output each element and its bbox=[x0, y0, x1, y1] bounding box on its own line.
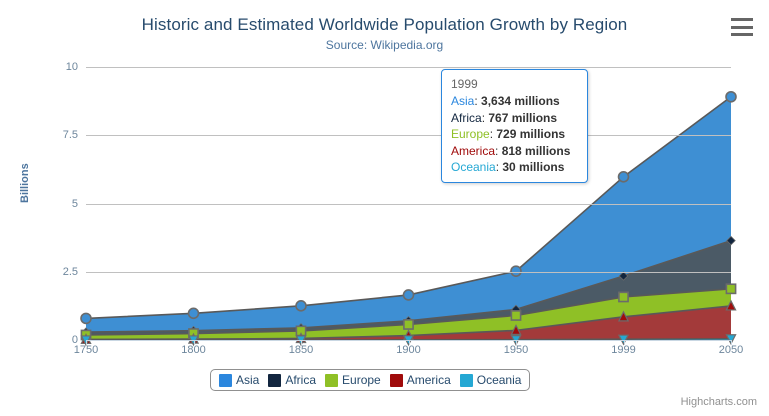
tooltip-series-name: Europe bbox=[451, 127, 490, 141]
tooltip-row: Africa: 767 millions bbox=[451, 110, 579, 126]
x-axis-label: 1750 bbox=[74, 344, 98, 356]
tooltip-rows: Asia: 3,634 millionsAfrica: 767 millions… bbox=[451, 93, 579, 175]
tooltip-header: 1999 bbox=[451, 76, 579, 93]
tooltip-series-value: 3,634 millions bbox=[481, 94, 560, 108]
legend-item-america[interactable]: America bbox=[390, 370, 451, 390]
y-axis-label: 7.5 bbox=[63, 129, 78, 141]
y-gridline bbox=[86, 135, 731, 136]
y-gridline bbox=[86, 67, 731, 68]
legend-item-oceania[interactable]: Oceania bbox=[460, 370, 522, 390]
y-axis-label: 10 bbox=[66, 61, 78, 73]
tooltip-series-name: America bbox=[451, 144, 495, 158]
tooltip-row: America: 818 millions bbox=[451, 143, 579, 159]
legend-item-label: America bbox=[407, 373, 451, 387]
legend-item-europe[interactable]: Europe bbox=[325, 370, 381, 390]
legend-item-label: Europe bbox=[342, 373, 381, 387]
legend-color-swatch bbox=[460, 374, 473, 387]
chart-subtitle: Source: Wikipedia.org bbox=[0, 38, 769, 52]
chart-title: Historic and Estimated Worldwide Populat… bbox=[0, 15, 769, 35]
legend-color-swatch bbox=[325, 374, 338, 387]
tooltip-series-value: 729 millions bbox=[496, 127, 565, 141]
hamburger-bar bbox=[731, 18, 753, 21]
hamburger-bar bbox=[731, 26, 753, 29]
data-tooltip: 1999 Asia: 3,634 millionsAfrica: 767 mil… bbox=[441, 69, 588, 183]
tooltip-series-name: Asia bbox=[451, 94, 474, 108]
legend-color-swatch bbox=[390, 374, 403, 387]
legend-color-swatch bbox=[219, 374, 232, 387]
x-axis-label: 1900 bbox=[396, 344, 420, 356]
chart-legend: AsiaAfricaEuropeAmericaOceania bbox=[210, 369, 530, 391]
x-axis-label: 2050 bbox=[719, 344, 743, 356]
legend-item-africa[interactable]: Africa bbox=[268, 370, 316, 390]
tooltip-series-name: Africa bbox=[451, 111, 482, 125]
legend-item-label: Africa bbox=[285, 373, 316, 387]
legend-item-asia[interactable]: Asia bbox=[219, 370, 259, 390]
y-axis-label: 2.5 bbox=[63, 266, 78, 278]
legend-item-label: Asia bbox=[236, 373, 259, 387]
y-gridline bbox=[86, 272, 731, 273]
tooltip-series-value: 767 millions bbox=[488, 111, 557, 125]
tooltip-row: Europe: 729 millions bbox=[451, 126, 579, 142]
y-axis-label: 5 bbox=[72, 198, 78, 210]
x-axis-label: 1950 bbox=[504, 344, 528, 356]
highcharts-container: Historic and Estimated Worldwide Populat… bbox=[0, 0, 769, 416]
x-axis-label: 1999 bbox=[611, 344, 635, 356]
plot-area bbox=[86, 67, 731, 340]
hamburger-bar bbox=[731, 33, 753, 36]
y-axis-labels: 02.557.510 bbox=[30, 67, 78, 340]
tooltip-series-value: 818 millions bbox=[502, 144, 571, 158]
credits-link[interactable]: Highcharts.com bbox=[681, 396, 757, 408]
tooltip-series-name: Oceania bbox=[451, 160, 496, 174]
legend-color-swatch bbox=[268, 374, 281, 387]
x-axis-label: 1850 bbox=[289, 344, 313, 356]
x-axis-label: 1800 bbox=[181, 344, 205, 356]
tooltip-row: Oceania: 30 millions bbox=[451, 159, 579, 175]
tooltip-row: Asia: 3,634 millions bbox=[451, 93, 579, 109]
x-axis-labels: 1750180018501900195019992050 bbox=[86, 344, 731, 362]
tooltip-series-value: 30 millions bbox=[502, 160, 564, 174]
y-gridline bbox=[86, 204, 731, 205]
hamburger-menu-icon[interactable] bbox=[731, 18, 753, 36]
legend-item-label: Oceania bbox=[477, 373, 522, 387]
